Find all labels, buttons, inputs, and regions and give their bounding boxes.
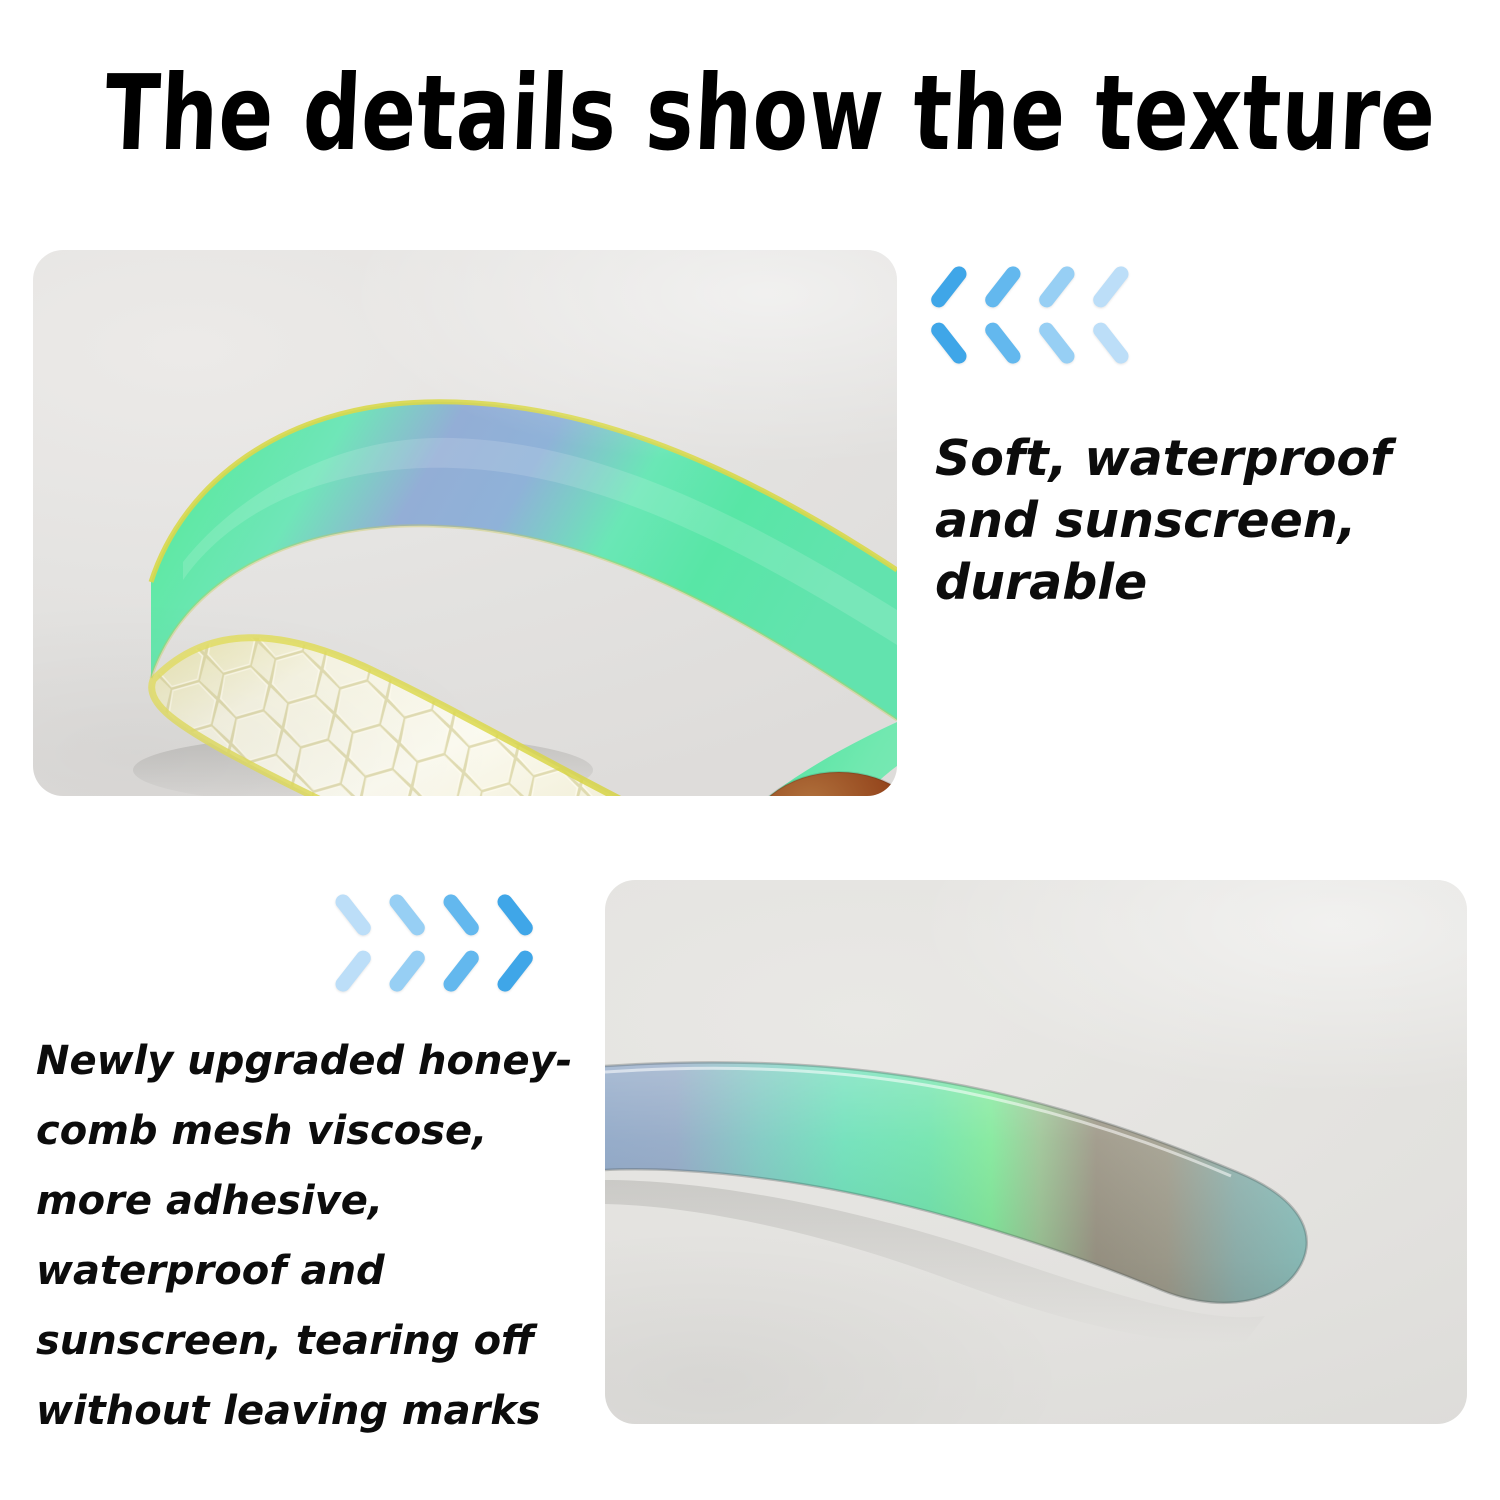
page-title: The details show the texture bbox=[103, 58, 1398, 168]
callout-text-bottom-left: Newly upgraded honey-comb mesh viscose, … bbox=[36, 1026, 596, 1446]
chevron-left-icon bbox=[982, 268, 1036, 360]
chevron-group-right bbox=[320, 894, 550, 990]
chevron-left-icon bbox=[1036, 268, 1090, 360]
wooden-prop bbox=[723, 772, 897, 796]
tape-strip-artwork bbox=[605, 880, 1467, 1424]
callout-text-top-right: Soft, waterproof and sunscreen, durable bbox=[935, 428, 1455, 614]
chevron-right-icon bbox=[428, 896, 482, 988]
chevron-left-icon bbox=[1090, 268, 1144, 360]
chevron-group-left bbox=[928, 266, 1148, 362]
chevron-left-icon bbox=[928, 268, 982, 360]
photo-panel-tape-strip bbox=[605, 880, 1467, 1424]
chevron-right-icon bbox=[374, 896, 428, 988]
tape-loop-artwork bbox=[33, 250, 897, 796]
photo-panel-tape-loop bbox=[33, 250, 897, 796]
chevron-right-icon bbox=[320, 896, 374, 988]
chevron-right-icon bbox=[482, 896, 536, 988]
